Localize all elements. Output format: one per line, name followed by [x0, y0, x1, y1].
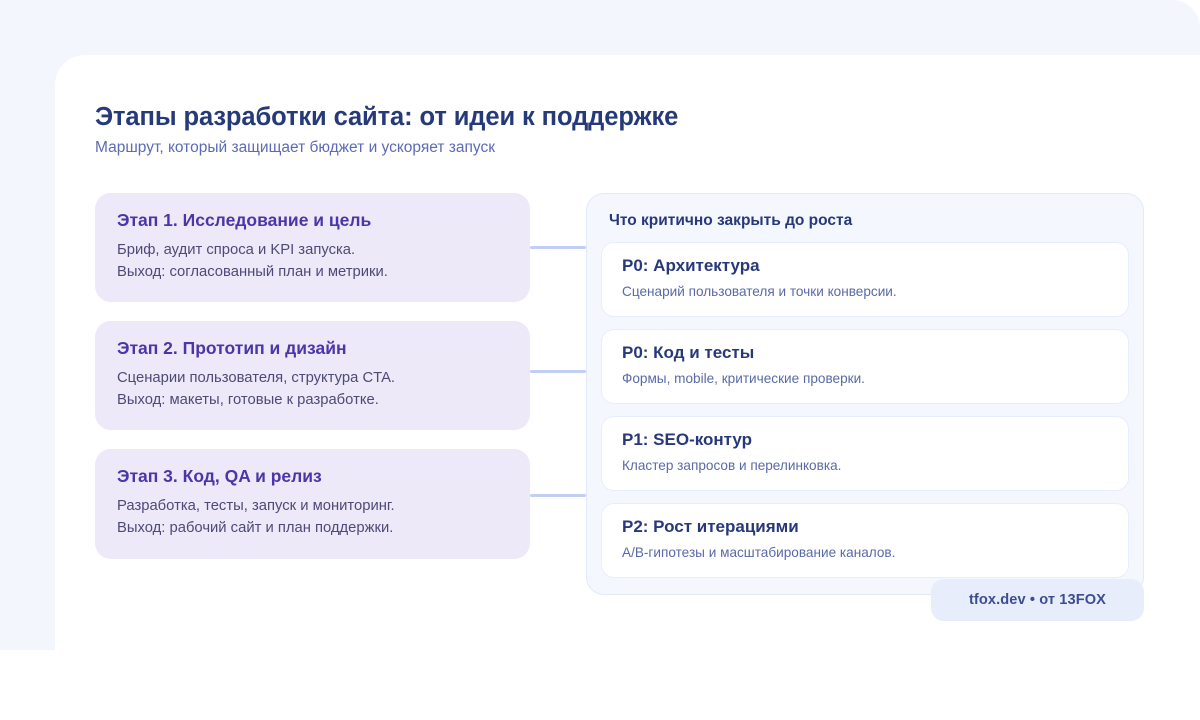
- stage-card-1[interactable]: Этап 1. Исследование и цель Бриф, аудит …: [95, 193, 530, 302]
- page-title: Этапы разработки сайта: от идеи к поддер…: [95, 103, 1144, 132]
- priority-panel: Что критично закрыть до роста P0: Архите…: [586, 193, 1144, 595]
- columns-wrapper: Этап 1. Исследование и цель Бриф, аудит …: [95, 193, 1144, 595]
- priority-title-4: P2: Рост итерациями: [622, 517, 1108, 537]
- stage-line-1-2: Выход: согласованный план и метрики.: [117, 262, 508, 284]
- priority-desc-1: Сценарий пользователя и точки конверсии.: [622, 282, 1108, 301]
- priority-desc-2: Формы, mobile, критические проверки.: [622, 369, 1108, 388]
- content-sheet: Этапы разработки сайта: от идеи к поддер…: [55, 55, 1200, 650]
- connector-line-3: [530, 494, 586, 497]
- stage-card-3[interactable]: Этап 3. Код, QA и релиз Разработка, тест…: [95, 449, 530, 558]
- priority-card-3[interactable]: P1: SEO-контур Кластер запросов и перели…: [601, 416, 1129, 491]
- priority-desc-3: Кластер запросов и перелинковка.: [622, 456, 1108, 475]
- connector-lines: [530, 193, 586, 595]
- stage-line-1-1: Бриф, аудит спроса и KPI запуска.: [117, 240, 508, 262]
- priority-card-1[interactable]: P0: Архитектура Сценарий пользователя и …: [601, 242, 1129, 317]
- page-subtitle: Маршрут, который защищает бюджет и ускор…: [95, 139, 1144, 157]
- stage-line-2-1: Сценарии пользователя, структура CTA.: [117, 368, 508, 390]
- stage-title-3: Этап 3. Код, QA и релиз: [117, 466, 508, 487]
- infographic-canvas: Этапы разработки сайта: от идеи к поддер…: [0, 0, 1200, 650]
- stage-line-3-2: Выход: рабочий сайт и план поддержки.: [117, 518, 508, 540]
- stage-card-2[interactable]: Этап 2. Прототип и дизайн Сценарии польз…: [95, 321, 530, 430]
- priority-card-2[interactable]: P0: Код и тесты Формы, mobile, критическ…: [601, 329, 1129, 404]
- priority-title-2: P0: Код и тесты: [622, 343, 1108, 363]
- attribution-badge[interactable]: tfox.dev • от 13FOX: [931, 579, 1144, 621]
- connector-line-1: [530, 246, 586, 249]
- priority-card-4[interactable]: P2: Рост итерациями A/B-гипотезы и масшт…: [601, 503, 1129, 578]
- priority-panel-heading: Что критично закрыть до роста: [609, 212, 1129, 230]
- priority-title-1: P0: Архитектура: [622, 256, 1108, 276]
- stage-line-3-1: Разработка, тесты, запуск и мониторинг.: [117, 496, 508, 518]
- content-inner: Этапы разработки сайта: от идеи к поддер…: [55, 55, 1200, 650]
- stage-title-1: Этап 1. Исследование и цель: [117, 210, 508, 231]
- priority-desc-4: A/B-гипотезы и масштабирование каналов.: [622, 543, 1108, 562]
- priority-title-3: P1: SEO-контур: [622, 430, 1108, 450]
- stages-column: Этап 1. Исследование и цель Бриф, аудит …: [95, 193, 530, 559]
- priority-list: P0: Архитектура Сценарий пользователя и …: [601, 242, 1129, 578]
- connector-line-2: [530, 370, 586, 373]
- stage-title-2: Этап 2. Прототип и дизайн: [117, 338, 508, 359]
- footer-row: tfox.dev • от 13FOX: [931, 579, 1144, 621]
- stage-line-2-2: Выход: макеты, готовые к разработке.: [117, 390, 508, 412]
